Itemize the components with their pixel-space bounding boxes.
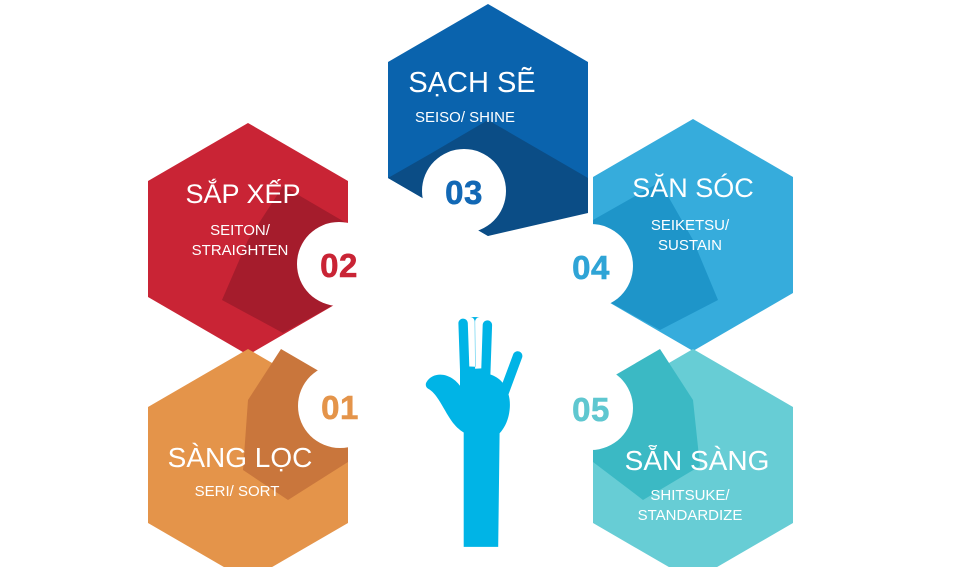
badge-number-04: 04 <box>572 249 610 286</box>
badge-number-02: 02 <box>320 247 358 284</box>
hand-icon-path <box>426 317 523 547</box>
number-badge-01[interactable]: 01 <box>298 364 382 448</box>
number-badge-02[interactable]: 02 <box>297 222 381 306</box>
number-badge-03[interactable]: 03 <box>422 149 506 233</box>
badge-number-03: 03 <box>445 174 483 211</box>
step-hexagon-04[interactable]: SĂN SÓC SEIKETSU/ SUSTAIN <box>593 119 793 351</box>
hexagon-title-04: SĂN SÓC <box>632 172 754 203</box>
hexagon-subtitle-01-line1: SERI/ SORT <box>195 483 280 500</box>
hexagon-title-05: SẴN SÀNG <box>625 444 770 476</box>
hexagon-subtitle-04-line2: SUSTAIN <box>658 237 722 254</box>
hexagon-subtitle-02-line2: STRAIGHTEN <box>192 242 289 259</box>
hexagon-subtitle-05-line1: SHITSUKE/ <box>650 487 730 504</box>
hexagon-subtitle-04-line1: SEIKETSU/ <box>651 217 730 234</box>
hexagon-subtitle-02-line1: SEITON/ <box>210 222 271 239</box>
hexagon-title-03: SẠCH SẼ <box>408 65 535 99</box>
hexagon-title-02: SẮP XẾP <box>185 178 300 209</box>
diagram-canvas: SẠCH SẼ SEISO/ SHINE SẮP XẾP SEITON/ STR… <box>0 0 960 567</box>
number-badge-04[interactable]: 04 <box>549 224 633 308</box>
hexagon-subtitle-03-line1: SEISO/ SHINE <box>415 109 515 126</box>
badge-number-01: 01 <box>321 389 359 426</box>
five-s-hexagon-diagram: SẠCH SẼ SEISO/ SHINE SẮP XẾP SEITON/ STR… <box>0 0 960 567</box>
hexagon-subtitle-05-line2: STANDARDIZE <box>638 507 743 524</box>
raised-hand-icon <box>426 317 523 547</box>
number-badge-05[interactable]: 05 <box>549 366 633 450</box>
badge-number-05: 05 <box>572 391 610 428</box>
hexagon-title-01: SÀNG LỌC <box>168 442 313 473</box>
